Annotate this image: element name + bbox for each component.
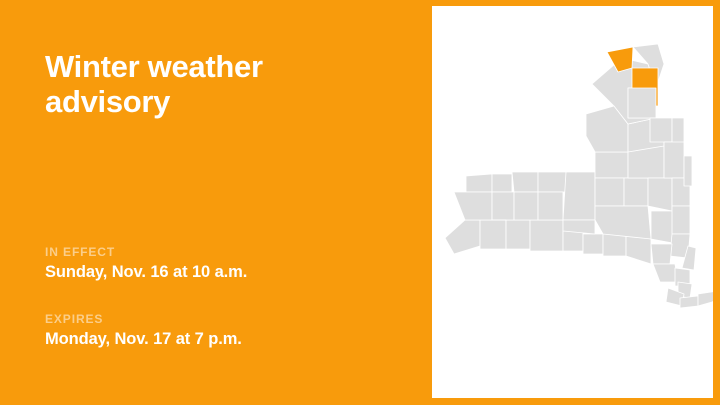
county-orleans xyxy=(492,174,512,192)
winter-weather-advisory-graphic: Winter weather advisory IN EFFECT Sunday… xyxy=(0,0,720,405)
county-tioga xyxy=(583,234,603,254)
county-fulton-saratoga xyxy=(664,142,684,178)
county-wayne xyxy=(538,172,566,192)
county-suffolk xyxy=(698,286,713,306)
county-cortland-chenango xyxy=(595,206,651,239)
county-allegany xyxy=(506,220,530,249)
county-layer xyxy=(445,44,713,308)
county-hamilton xyxy=(628,88,656,118)
expires-value: Monday, Nov. 17 at 7 p.m. xyxy=(45,329,405,350)
county-rensselaer xyxy=(684,156,692,186)
county-oswego xyxy=(595,152,628,178)
county-chautauqua xyxy=(445,220,480,254)
county-sullivan xyxy=(651,244,672,264)
map-panel xyxy=(432,6,713,398)
county-ontario xyxy=(538,192,563,220)
page-title: Winter weather advisory xyxy=(45,50,365,119)
county-otsego xyxy=(648,178,672,211)
county-greene-columbia xyxy=(672,206,690,234)
advisory-info-panel: Winter weather advisory IN EFFECT Sunday… xyxy=(0,0,432,405)
new-york-county-map xyxy=(432,6,713,398)
county-monroe xyxy=(512,172,538,192)
county-madison xyxy=(624,178,648,206)
expires-block: EXPIRES Monday, Nov. 17 at 7 p.m. xyxy=(45,312,405,350)
county-erie xyxy=(454,192,492,220)
county-cattaraugus xyxy=(480,220,506,249)
in-effect-value: Sunday, Nov. 16 at 10 a.m. xyxy=(45,262,405,283)
county-niagara xyxy=(466,174,492,192)
expires-label: EXPIRES xyxy=(45,312,405,326)
county-warren xyxy=(650,118,672,142)
county-orange xyxy=(653,264,678,282)
in-effect-label: IN EFFECT xyxy=(45,245,405,259)
county-livingston xyxy=(514,192,538,220)
county-broome xyxy=(603,234,626,256)
county-onondaga xyxy=(595,178,624,206)
county-genesee xyxy=(492,192,514,220)
county-steuben xyxy=(530,220,563,251)
county-chemung xyxy=(563,231,583,251)
county-seneca-cayuga xyxy=(563,172,595,220)
county-nassau xyxy=(680,296,698,308)
in-effect-block: IN EFFECT Sunday, Nov. 16 at 10 a.m. xyxy=(45,245,405,283)
